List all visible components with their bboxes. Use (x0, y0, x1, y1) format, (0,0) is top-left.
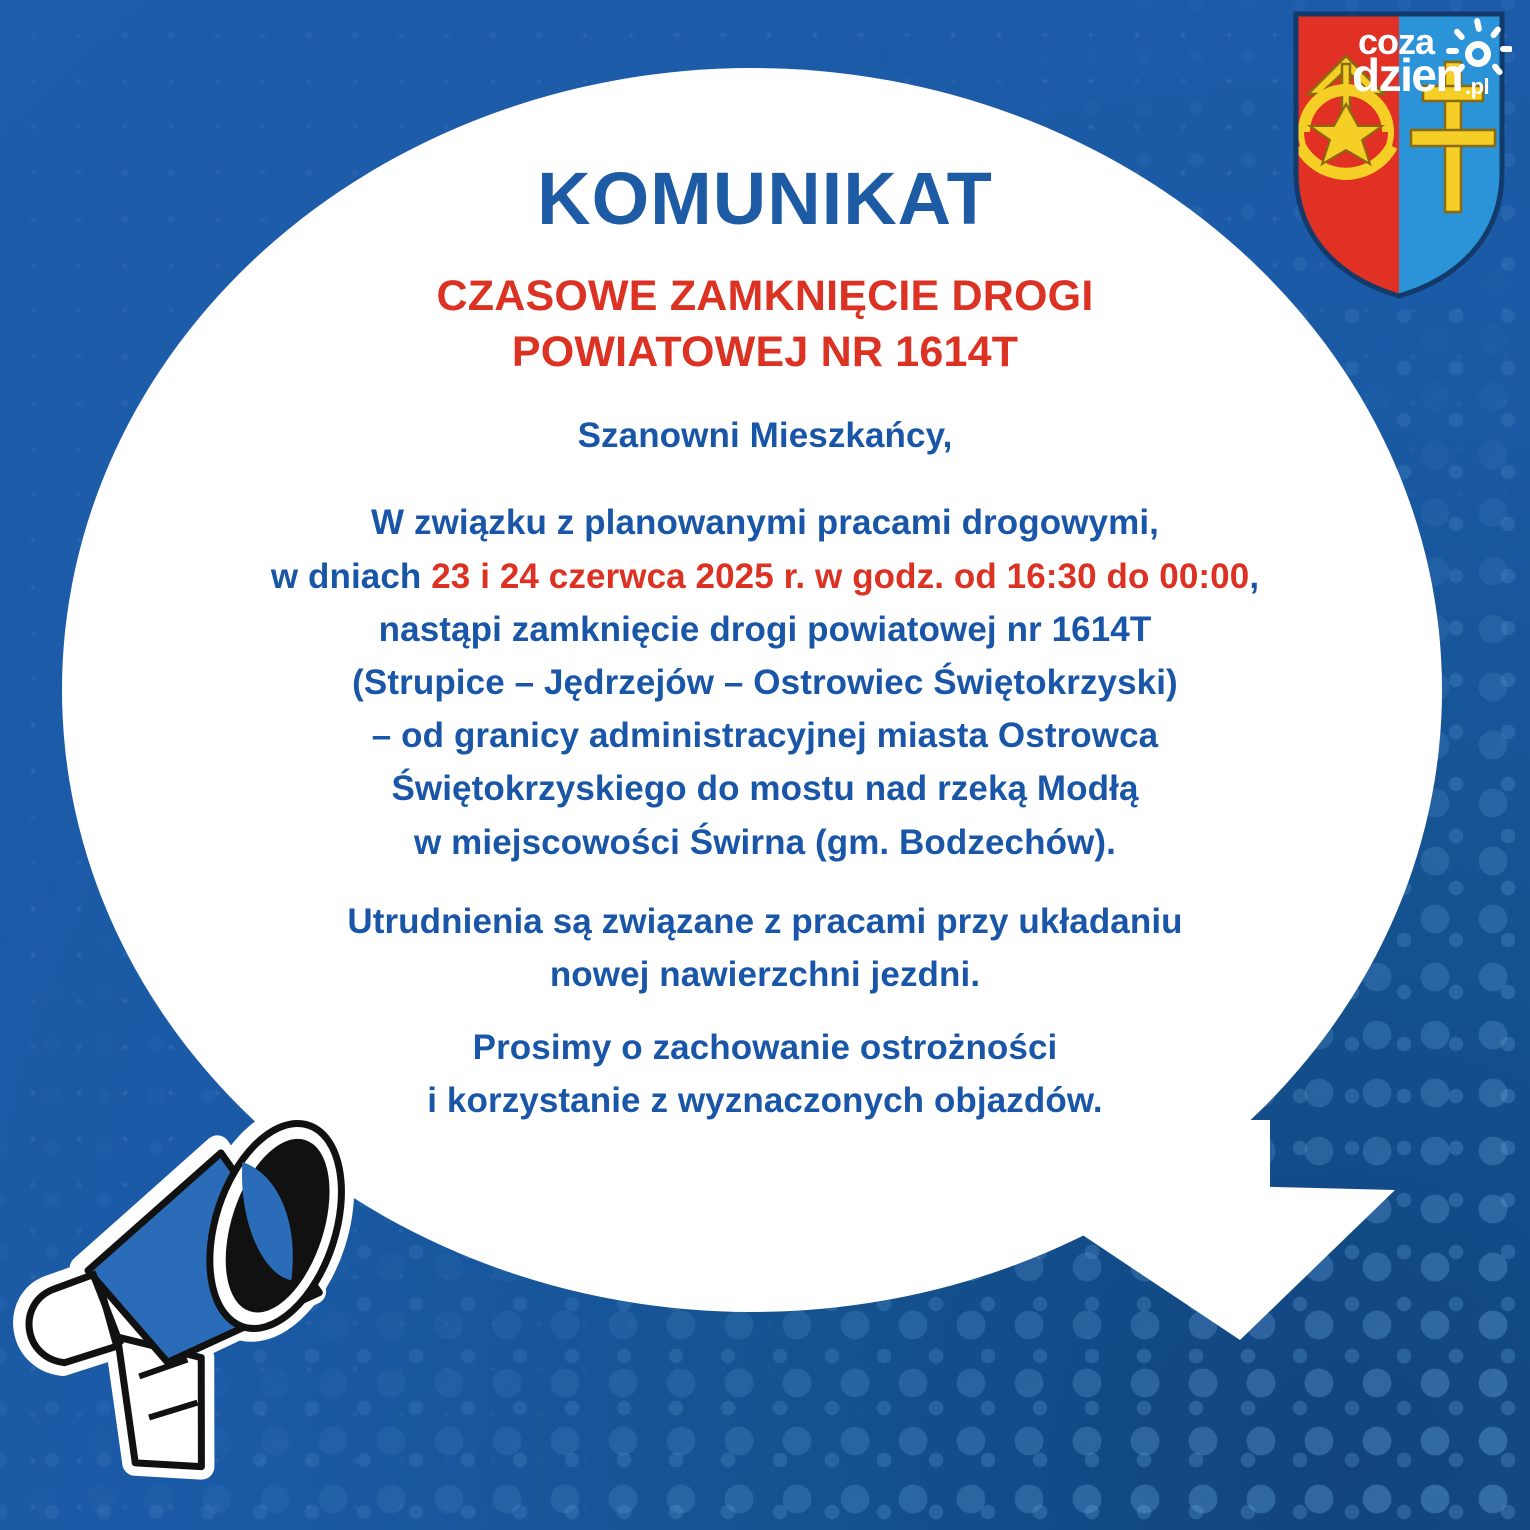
body-line-4: (Strupice – Jędrzejów – Ostrowiec Święto… (150, 656, 1380, 709)
body2-line-2: nowej nawierzchni jezdni. (150, 948, 1380, 1001)
logo-line-2: dzien (1352, 52, 1462, 98)
announcement-subtitle: CZASOWE ZAMKNIĘCIE DROGI POWIATOWEJ NR 1… (150, 268, 1380, 382)
body2-line-1: Utrudnienia są związane z pracami przy u… (150, 895, 1380, 948)
body-line-2: w dniach 23 i 24 czerwca 2025 r. w godz.… (150, 550, 1380, 603)
body-line-5: – od granicy administracyjnej miasta Ost… (150, 709, 1380, 762)
body-paragraph-2: Utrudnienia są związane z pracami przy u… (150, 895, 1380, 1001)
body-line-6: Świętokrzyskiego do mostu nad rzeką Modł… (150, 762, 1380, 815)
logo-line-3: .pl (1465, 76, 1489, 98)
body-line-1: W związku z planowanymi pracami drogowym… (150, 496, 1380, 549)
announcement-content: KOMUNIKAT CZASOWE ZAMKNIĘCIE DROGI POWIA… (150, 160, 1380, 1153)
page-title: KOMUNIKAT (150, 160, 1380, 238)
cozadzien-logo[interactable]: coza dzien .pl (1352, 16, 1512, 116)
date-highlight: 23 i 24 czerwca 2025 r. w godz. od 16:30… (431, 557, 1249, 596)
megaphone-icon (0, 1057, 410, 1502)
salutation: Szanowni Mieszkańcy, (150, 409, 1380, 462)
subtitle-line-1: CZASOWE ZAMKNIĘCIE DROGI (270, 268, 1260, 325)
subtitle-line-2: POWIATOWEJ NR 1614T (270, 324, 1260, 381)
body-line-3: nastąpi zamknięcie drogi powiatowej nr 1… (150, 603, 1380, 656)
announcement-poster: coza dzien .pl KOMUNIKAT CZASOWE ZAMKNIĘ… (0, 0, 1530, 1530)
body-paragraph-1: W związku z planowanymi pracami drogowym… (150, 496, 1380, 868)
date-suffix: , (1249, 557, 1259, 596)
date-prefix: w dniach (271, 557, 431, 596)
body-line-7: w miejscowości Świrna (gm. Bodzechów). (150, 816, 1380, 869)
